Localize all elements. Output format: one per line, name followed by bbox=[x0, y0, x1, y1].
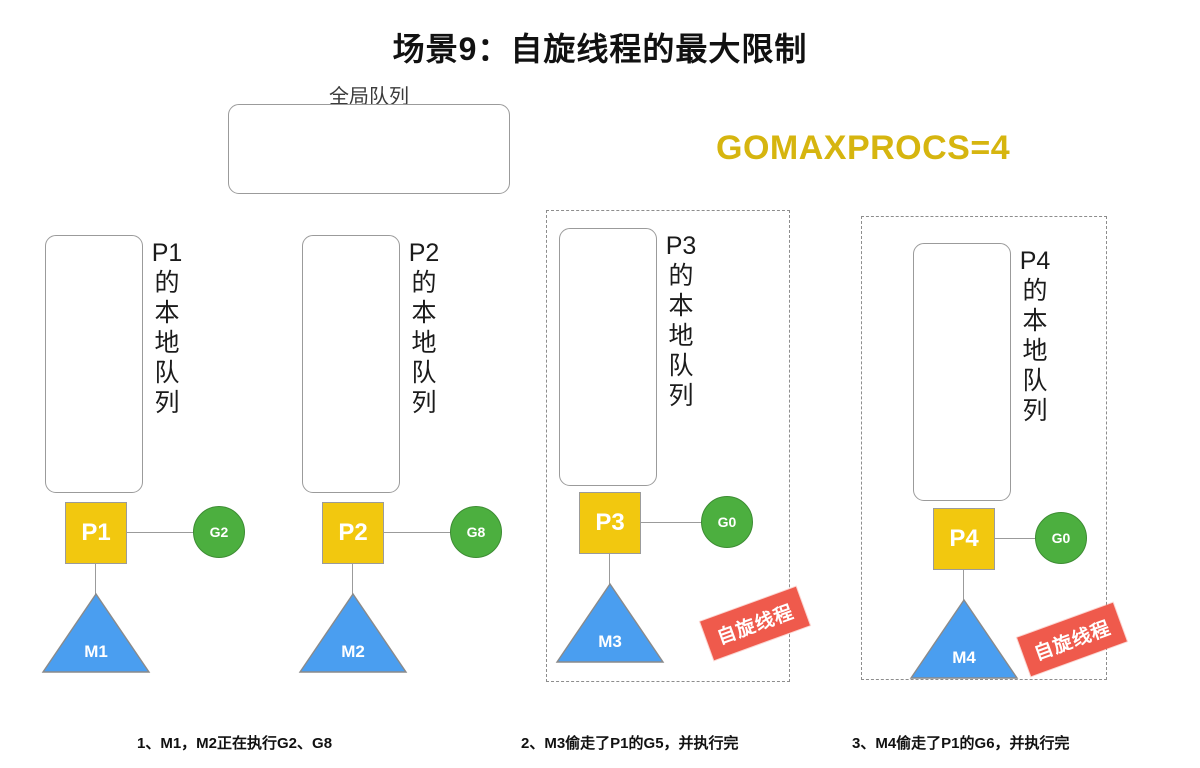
global-queue-box bbox=[228, 104, 510, 194]
queue-label-line: 列 bbox=[407, 388, 441, 418]
processor-box-p4[interactable]: P4 bbox=[933, 508, 995, 570]
machine-triangle-m4[interactable]: M4 bbox=[909, 598, 1019, 680]
queue-label-line: 的 bbox=[664, 261, 698, 291]
local-queue-box-p2 bbox=[302, 235, 400, 493]
machine-triangle-m3[interactable]: M3 bbox=[555, 582, 665, 664]
queue-label-line: 本 bbox=[407, 298, 441, 328]
queue-label-line: 本 bbox=[150, 298, 184, 328]
diagram-canvas: 场景9：自旋线程的最大限制 全局队列 GOMAXPROCS=4 P1 的 本 地… bbox=[0, 0, 1200, 768]
queue-label-line: 本 bbox=[664, 291, 698, 321]
goroutine-circle-g2[interactable]: G2 bbox=[193, 506, 245, 558]
machine-label-m4: M4 bbox=[909, 648, 1019, 668]
goroutine-circle-g8[interactable]: G8 bbox=[450, 506, 502, 558]
machine-triangle-m2[interactable]: M2 bbox=[298, 592, 408, 674]
connector-p3-g0 bbox=[641, 522, 707, 523]
queue-label-line: 的 bbox=[150, 268, 184, 298]
gomaxprocs-label: GOMAXPROCS=4 bbox=[716, 129, 1010, 168]
queue-label-line: P3 bbox=[664, 231, 698, 261]
queue-label-line: 本 bbox=[1018, 306, 1052, 336]
queue-label-line: 列 bbox=[150, 388, 184, 418]
processor-box-p1[interactable]: P1 bbox=[65, 502, 127, 564]
machine-label-m3: M3 bbox=[555, 632, 665, 652]
queue-label-line: 的 bbox=[1018, 276, 1052, 306]
queue-label-line: 队 bbox=[1018, 366, 1052, 396]
queue-label-line: 列 bbox=[664, 381, 698, 411]
machine-label-m2: M2 bbox=[298, 642, 408, 662]
queue-label-line: 地 bbox=[1018, 336, 1052, 366]
goroutine-circle-g0-p3[interactable]: G0 bbox=[701, 496, 753, 548]
local-queue-label-p3: P3 的 本 地 队 列 bbox=[664, 231, 698, 411]
queue-label-line: 队 bbox=[150, 358, 184, 388]
queue-label-line: 队 bbox=[664, 351, 698, 381]
connector-p1-g2 bbox=[127, 532, 199, 533]
processor-box-p3[interactable]: P3 bbox=[579, 492, 641, 554]
processor-box-p2[interactable]: P2 bbox=[322, 502, 384, 564]
caption-3: 3、M4偷走了P1的G6，并执行完 bbox=[852, 732, 1070, 753]
queue-label-line: 队 bbox=[407, 358, 441, 388]
local-queue-label-p1: P1 的 本 地 队 列 bbox=[150, 238, 184, 418]
local-queue-box-p1 bbox=[45, 235, 143, 493]
goroutine-circle-g0-p4[interactable]: G0 bbox=[1035, 512, 1087, 564]
queue-label-line: 列 bbox=[1018, 396, 1052, 426]
queue-label-line: 地 bbox=[407, 328, 441, 358]
local-queue-label-p4: P4 的 本 地 队 列 bbox=[1018, 246, 1052, 426]
page-title: 场景9：自旋线程的最大限制 bbox=[0, 24, 1200, 70]
local-queue-box-p4 bbox=[913, 243, 1011, 501]
queue-label-line: 的 bbox=[407, 268, 441, 298]
machine-triangle-m1[interactable]: M1 bbox=[41, 592, 151, 674]
local-queue-label-p2: P2 的 本 地 队 列 bbox=[407, 238, 441, 418]
queue-label-line: P2 bbox=[407, 238, 441, 268]
connector-p2-g8 bbox=[384, 532, 456, 533]
queue-label-line: P1 bbox=[150, 238, 184, 268]
local-queue-box-p3 bbox=[559, 228, 657, 486]
caption-2: 2、M3偷走了P1的G5，并执行完 bbox=[521, 732, 739, 753]
machine-label-m1: M1 bbox=[41, 642, 151, 662]
caption-1: 1、M1，M2正在执行G2、G8 bbox=[137, 732, 332, 753]
queue-label-line: 地 bbox=[664, 321, 698, 351]
queue-label-line: 地 bbox=[150, 328, 184, 358]
queue-label-line: P4 bbox=[1018, 246, 1052, 276]
